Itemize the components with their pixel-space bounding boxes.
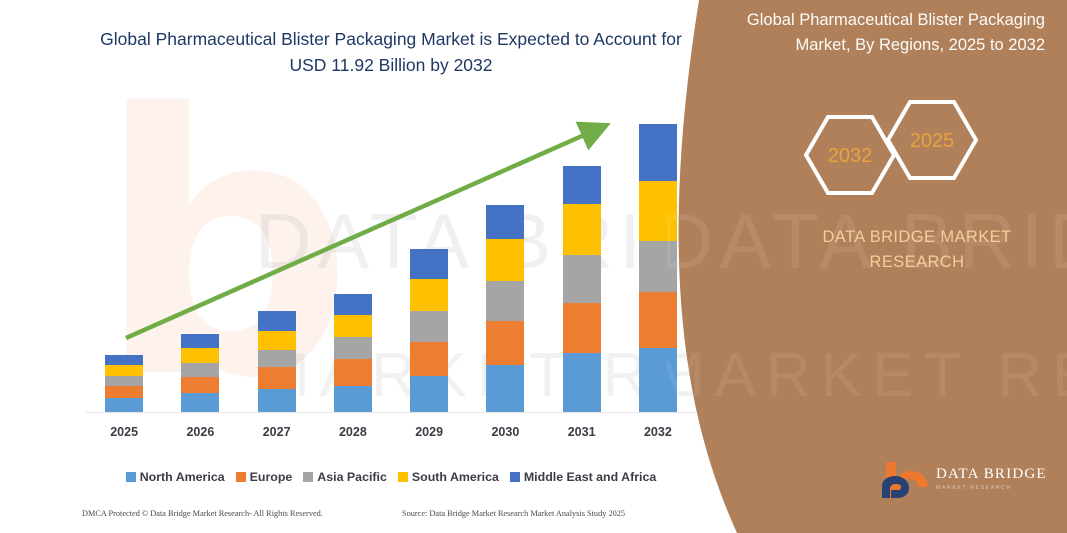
- footer-copyright: DMCA Protected © Data Bridge Market Rese…: [82, 509, 323, 518]
- x-axis-label: 2031: [546, 425, 618, 439]
- legend-item[interactable]: South America: [398, 470, 499, 484]
- legend-swatch-icon: [236, 472, 246, 482]
- logo-text-block: DATA BRIDGE MARKET RESEARCH: [936, 466, 1047, 491]
- legend-item[interactable]: Europe: [236, 470, 293, 484]
- legend-item[interactable]: Asia Pacific: [303, 470, 387, 484]
- panel-title: Global Pharmaceutical Blister Packaging …: [745, 8, 1045, 58]
- legend-label: Europe: [250, 470, 293, 484]
- logo-name: DATA BRIDGE: [936, 466, 1047, 483]
- x-axis-label: 2027: [241, 425, 313, 439]
- x-axis-label: 2026: [164, 425, 236, 439]
- legend-item[interactable]: North America: [126, 470, 225, 484]
- legend-label: South America: [412, 470, 499, 484]
- legend-swatch-icon: [126, 472, 136, 482]
- hexagon-2025-label: 2025: [910, 130, 955, 152]
- legend-swatch-icon: [510, 472, 520, 482]
- legend-swatch-icon: [398, 472, 408, 482]
- x-axis-label: 2030: [469, 425, 541, 439]
- brand-name-line2: RESEARCH: [777, 250, 1057, 275]
- legend-label: North America: [140, 470, 225, 484]
- x-axis-label: 2025: [88, 425, 160, 439]
- brand-panel: DATA BRIDGE MARKET RESEARCH Global Pharm…: [667, 0, 1067, 533]
- chart-title: Global Pharmaceutical Blister Packaging …: [86, 26, 696, 78]
- footer-source: Source: Data Bridge Market Research Mark…: [402, 509, 625, 518]
- x-axis-labels: 20252026202720282029203020312032: [86, 420, 696, 444]
- panel-watermark-2: MARKET RESEARCH: [667, 340, 1067, 411]
- legend-label: Middle East and Africa: [524, 470, 656, 484]
- brand-name: DATA BRIDGE MARKET RESEARCH: [777, 225, 1057, 275]
- x-axis-label: 2028: [317, 425, 389, 439]
- brand-name-line1: DATA BRIDGE MARKET: [777, 225, 1057, 250]
- x-axis-label: 2029: [393, 425, 465, 439]
- hexagon-group: 2032 2025: [792, 100, 1022, 210]
- chart-legend: North AmericaEuropeAsia PacificSouth Ame…: [86, 470, 696, 484]
- data-bridge-logo-icon: [880, 460, 932, 504]
- logo-subtitle: MARKET RESEARCH: [936, 485, 1047, 491]
- infographic-root: b DATA BRIDGE MARKET RESEARCH Global Pha…: [0, 0, 1067, 533]
- legend-label: Asia Pacific: [317, 470, 387, 484]
- legend-swatch-icon: [303, 472, 313, 482]
- data-bridge-logo: DATA BRIDGE MARKET RESEARCH: [880, 460, 1055, 506]
- legend-item[interactable]: Middle East and Africa: [510, 470, 656, 484]
- x-axis-line: [86, 412, 696, 413]
- trend-arrow-icon: [86, 110, 696, 412]
- hexagon-2032-label: 2032: [828, 145, 873, 167]
